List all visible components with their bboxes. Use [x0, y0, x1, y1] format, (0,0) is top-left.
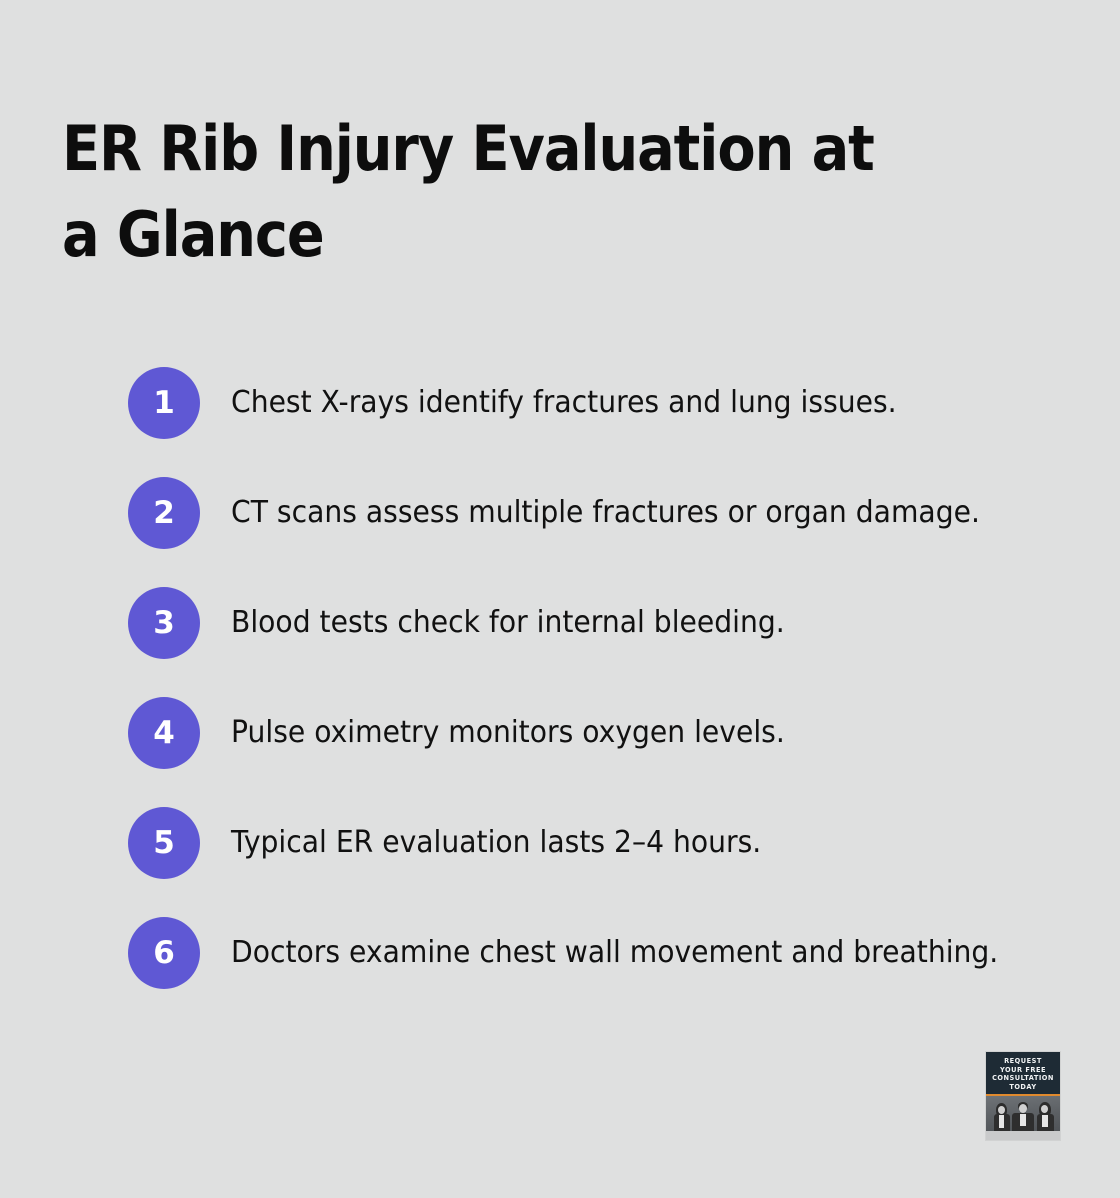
step-number-badge: 5: [128, 807, 200, 879]
page-title: ER Rib Injury Evaluation at a Glance: [62, 106, 926, 278]
head-shape: [1041, 1105, 1048, 1113]
list-item: 4 Pulse oximetry monitors oxygen levels.: [128, 697, 1068, 769]
head-shape: [998, 1106, 1005, 1114]
shirt-shape: [999, 1115, 1004, 1128]
cta-headline: REQUEST YOUR FREE CONSULTATION TODAY: [986, 1052, 1060, 1094]
list-item: 3 Blood tests check for internal bleedin…: [128, 587, 1068, 659]
step-number-badge: 2: [128, 477, 200, 549]
list-item: 6 Doctors examine chest wall movement an…: [128, 917, 1068, 989]
list-item: 2 CT scans assess multiple fractures or …: [128, 477, 1068, 549]
step-label: Doctors examine chest wall movement and …: [231, 934, 998, 972]
head-shape: [1019, 1104, 1027, 1113]
step-label: Chest X-rays identify fractures and lung…: [231, 384, 897, 422]
step-label: CT scans assess multiple fractures or or…: [231, 494, 980, 532]
person-left-icon: [993, 1103, 1011, 1133]
steps-list: 1 Chest X-rays identify fractures and lu…: [128, 367, 1068, 989]
list-item: 1 Chest X-rays identify fractures and lu…: [128, 367, 1068, 439]
shirt-shape: [1020, 1114, 1026, 1126]
list-item: 5 Typical ER evaluation lasts 2–4 hours.: [128, 807, 1068, 879]
attorneys-photo: [986, 1096, 1060, 1140]
photo-floor: [986, 1131, 1060, 1140]
step-number-badge: 1: [128, 367, 200, 439]
step-number-badge: 4: [128, 697, 200, 769]
shirt-shape: [1042, 1115, 1048, 1127]
step-label: Pulse oximetry monitors oxygen levels.: [231, 714, 785, 752]
step-label: Typical ER evaluation lasts 2–4 hours.: [231, 824, 761, 862]
infographic-canvas: ER Rib Injury Evaluation at a Glance 1 C…: [0, 0, 1120, 1198]
person-right-icon: [1036, 1102, 1055, 1133]
cta-consultation-badge[interactable]: REQUEST YOUR FREE CONSULTATION TODAY: [986, 1052, 1060, 1140]
step-number-badge: 6: [128, 917, 200, 989]
step-label: Blood tests check for internal bleeding.: [231, 604, 785, 642]
step-number-badge: 3: [128, 587, 200, 659]
